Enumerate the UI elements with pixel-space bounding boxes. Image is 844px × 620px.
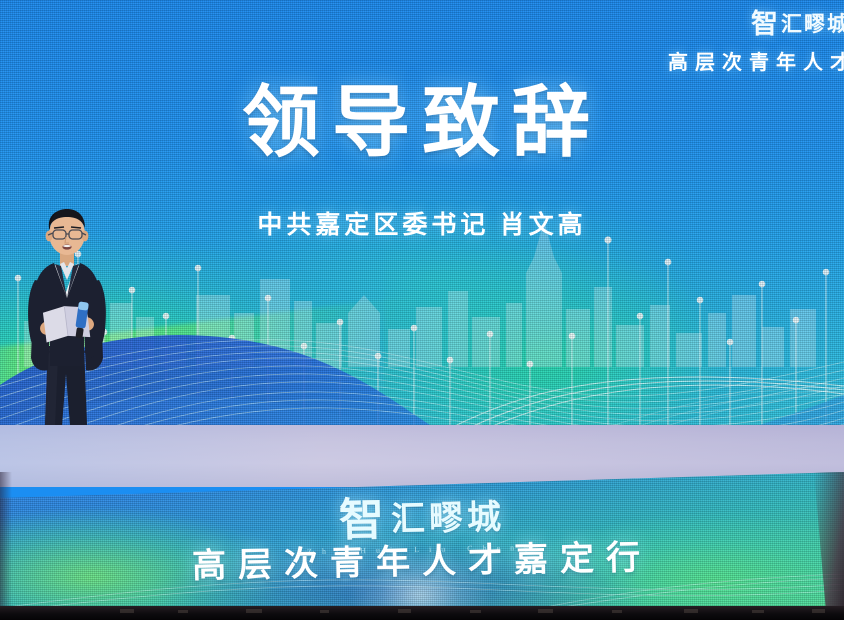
page-title: 领导致辞 [0, 84, 844, 162]
screenshot-root: 领导致辞 中共嘉定区委书记 肖文高 智汇疁城 高层次青年人才嘉 [0, 0, 844, 620]
corner-slogan: 高层次青年人才嘉 [550, 46, 844, 75]
front-panel-left-edge-shadow [0, 472, 12, 612]
stage-base-specks [0, 606, 844, 620]
corner-logo-big-char: 智 [751, 9, 780, 39]
corner-branding: 智汇疁城 高层次青年人才嘉 [550, 2, 844, 75]
led-backdrop-wall: 领导致辞 中共嘉定区委书记 肖文高 智汇疁城 高层次青年人才嘉 [0, 0, 844, 479]
corner-logo: 智汇疁城 [550, 2, 844, 41]
speaker-title-line: 中共嘉定区委书记 肖文高 [0, 205, 844, 241]
front-led-panel: 智汇疁城 Zhi Hui Liu Cheng 高层次青年人才嘉定行 [0, 472, 844, 612]
corner-logo-rest: 汇疁城 [781, 12, 844, 36]
